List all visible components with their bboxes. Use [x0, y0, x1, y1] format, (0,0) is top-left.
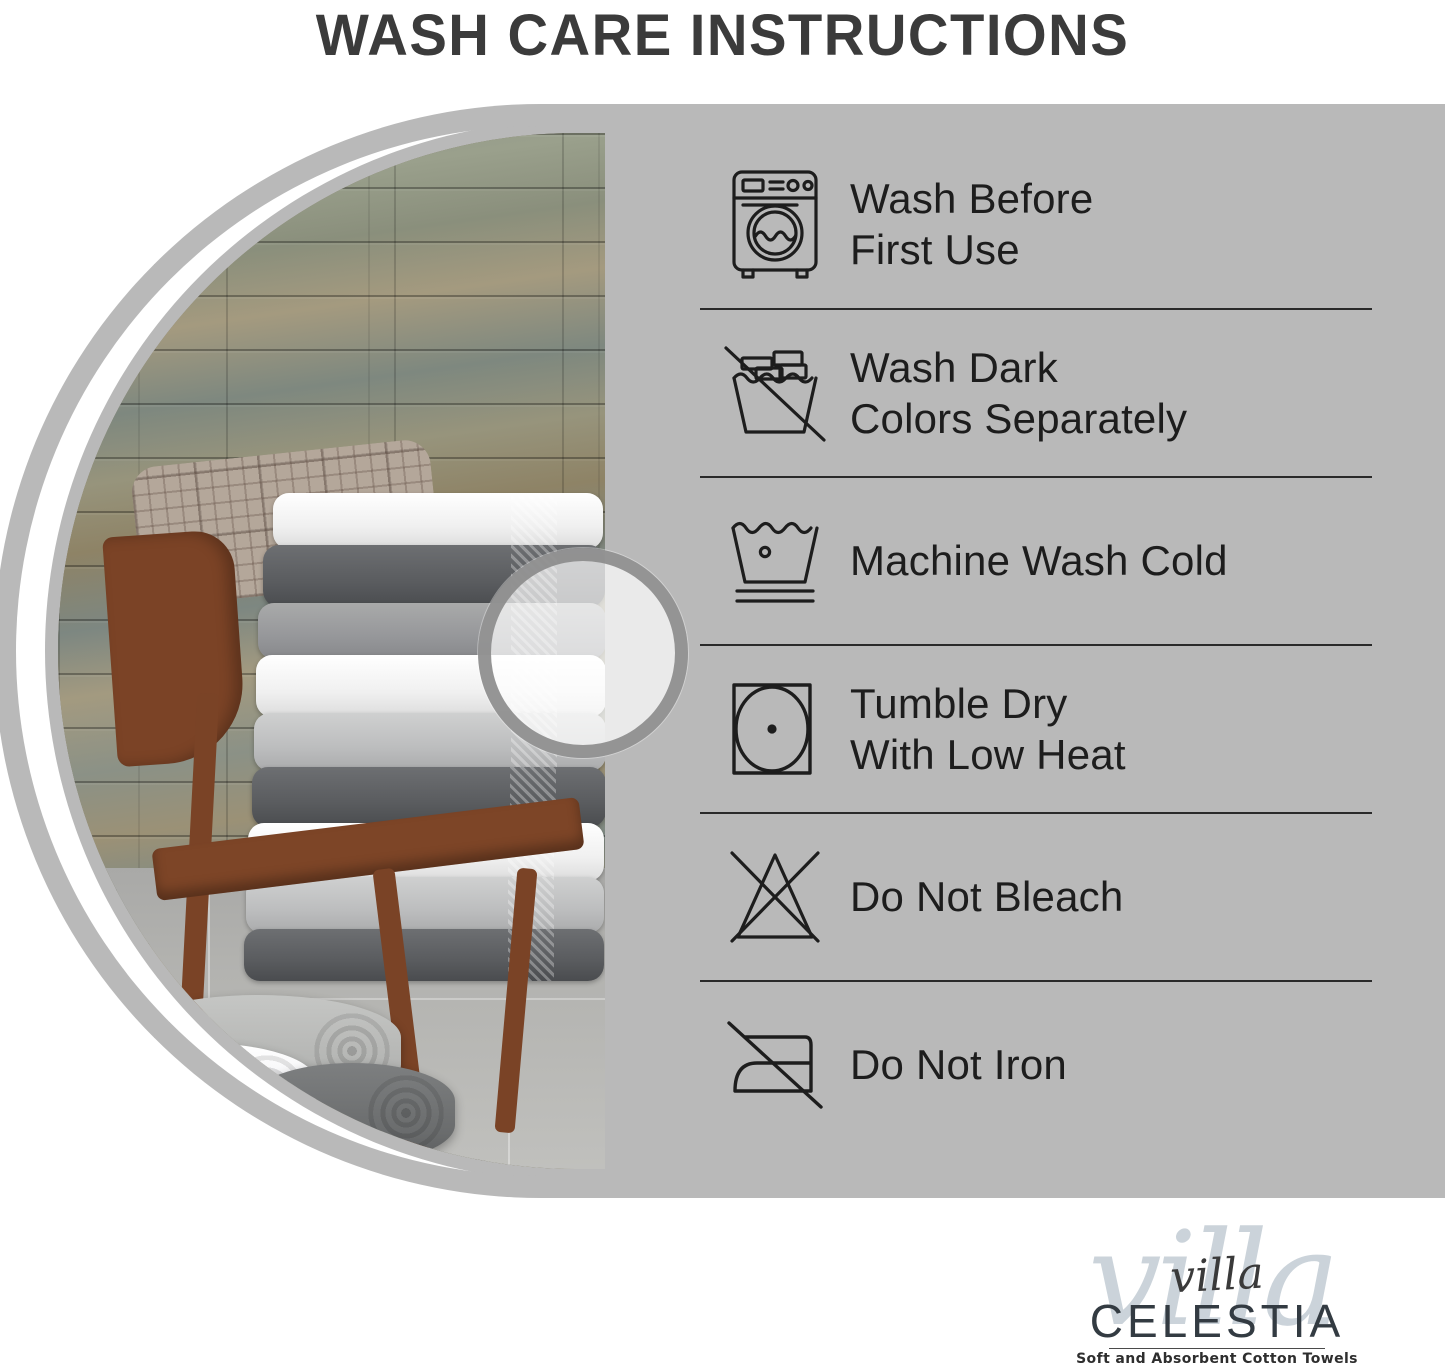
- care-label: Wash Dark Colors Separately: [850, 342, 1187, 444]
- do-not-iron-icon: [700, 1000, 850, 1130]
- care-row: Machine Wash Cold: [700, 476, 1372, 644]
- do-not-bleach-icon: [700, 832, 850, 962]
- washing-machine-icon: [700, 159, 850, 289]
- brand-divider-rule: [1109, 1348, 1325, 1349]
- brand-logo: villa villa CELESTIA Soft and Absorbent …: [1067, 1236, 1367, 1361]
- care-label: Do Not Iron: [850, 1039, 1067, 1090]
- care-row: Tumble Dry With Low Heat: [700, 644, 1372, 812]
- brand-primary-name: CELESTIA: [1067, 1298, 1367, 1344]
- care-label: Machine Wash Cold: [850, 535, 1228, 586]
- wash-tub-cold-icon: [700, 496, 850, 626]
- care-label: Tumble Dry With Low Heat: [850, 678, 1126, 780]
- care-label: Wash Before First Use: [850, 173, 1093, 275]
- care-row: Do Not Bleach: [700, 812, 1372, 980]
- no-mixed-wash-basket-icon: [700, 328, 850, 458]
- tumble-dry-low-heat-icon: [700, 664, 850, 794]
- page-title: WASH CARE INSTRUCTIONS: [22, 2, 1424, 69]
- care-instruction-list: Wash Before First Use Wash Dark Colors S…: [700, 140, 1372, 1148]
- care-row: Wash Dark Colors Separately: [700, 308, 1372, 476]
- care-row: Do Not Iron: [700, 980, 1372, 1148]
- care-label: Do Not Bleach: [850, 871, 1123, 922]
- brand-tagline: Soft and Absorbent Cotton Towels: [1067, 1352, 1367, 1366]
- wash-care-infographic: WASH CARE INSTRUCTIONS: [0, 0, 1445, 1367]
- care-row: Wash Before First Use: [700, 140, 1372, 308]
